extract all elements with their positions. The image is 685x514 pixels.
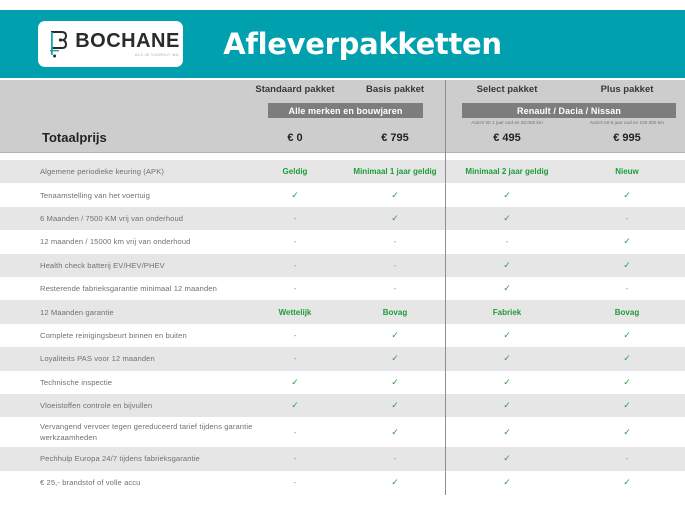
- page-banner: Afleverpakketten BOCHANE ALS JE VOORUIT …: [0, 10, 685, 78]
- table-row: Tenaamstelling van het voertuig✓✓✓✓: [0, 183, 685, 206]
- check-icon: ✓: [572, 427, 682, 438]
- logo-tagline: ALS JE VOORUIT WIL: [135, 54, 180, 58]
- table-row: 6 Maanden / 7500 KM vrij van onderhoud-✓…: [0, 207, 685, 230]
- feature-value: Minimaal 2 jaar geldig: [452, 167, 562, 176]
- column-header-select: Select pakket: [452, 84, 562, 95]
- dash-icon: -: [240, 261, 350, 270]
- check-icon: ✓: [572, 330, 682, 341]
- table-row: 12 Maanden garantieWettelijkBovagFabriek…: [0, 300, 685, 323]
- dash-icon: -: [240, 237, 350, 246]
- comparison-table-page: Afleverpakketten BOCHANE ALS JE VOORUIT …: [0, 0, 685, 514]
- check-icon: ✓: [452, 213, 562, 224]
- table-row: Pechhulp Europa 24/7 tijdens fabrieksgar…: [0, 447, 685, 470]
- group-divider: [445, 80, 446, 495]
- check-icon: ✓: [572, 190, 682, 201]
- check-icon: ✓: [340, 400, 450, 411]
- check-icon: ✓: [572, 400, 682, 411]
- check-icon: ✓: [240, 400, 350, 411]
- check-icon: ✓: [572, 477, 682, 488]
- table-row: Algemene periodieke keuring (APK)GeldigM…: [0, 160, 685, 183]
- check-icon: ✓: [572, 236, 682, 247]
- check-icon: ✓: [340, 353, 450, 364]
- total-price-row: Totaalprijs € 0 € 795 € 495 € 995: [0, 125, 685, 152]
- feature-label: Vloeistoffen controle en bijvullen: [40, 400, 270, 411]
- group-bar-alle-merken: Alle merken en bouwjaren: [268, 103, 423, 118]
- total-price-select: € 495: [452, 132, 562, 144]
- check-icon: ✓: [240, 190, 350, 201]
- feature-value: Bovag: [572, 308, 682, 317]
- table-row: Resterende fabrieksgarantie minimaal 12 …: [0, 277, 685, 300]
- table-row: Loyaliteits PAS voor 12 maanden-✓✓✓: [0, 347, 685, 370]
- check-icon: ✓: [452, 477, 562, 488]
- check-icon: ✓: [452, 190, 562, 201]
- dash-icon: -: [340, 237, 450, 246]
- check-icon: ✓: [452, 353, 562, 364]
- dash-icon: -: [340, 261, 450, 270]
- check-icon: ✓: [452, 283, 562, 294]
- feature-label: Pechhulp Europa 24/7 tijdens fabrieksgar…: [40, 453, 270, 464]
- table-row: Health check batterij EV/HEV/PHEV--✓✓: [0, 254, 685, 277]
- feature-table: Algemene periodieke keuring (APK)GeldigM…: [0, 160, 685, 494]
- feature-value: Fabriek: [452, 308, 562, 317]
- check-icon: ✓: [572, 377, 682, 388]
- dash-icon: -: [240, 331, 350, 340]
- feature-label: Algemene periodieke keuring (APK): [40, 166, 270, 177]
- bochane-b-mark-icon: [47, 29, 71, 59]
- feature-label: Complete reinigingsbeurt binnen en buite…: [40, 330, 270, 341]
- dash-icon: -: [240, 454, 350, 463]
- table-row: Complete reinigingsbeurt binnen en buite…: [0, 324, 685, 347]
- dash-icon: -: [572, 214, 682, 223]
- feature-value: Wettelijk: [240, 308, 350, 317]
- check-icon: ✓: [240, 377, 350, 388]
- check-icon: ✓: [452, 453, 562, 464]
- table-row: € 25,- brandstof of volle accu-✓✓✓: [0, 471, 685, 494]
- check-icon: ✓: [572, 260, 682, 271]
- column-header-standaard: Standaard pakket: [240, 84, 350, 95]
- brand-logo: BOCHANE ALS JE VOORUIT WIL: [38, 21, 183, 67]
- feature-value: Minimaal 1 jaar geldig: [340, 167, 450, 176]
- dash-icon: -: [572, 454, 682, 463]
- feature-label: Resterende fabrieksgarantie minimaal 12 …: [40, 283, 270, 294]
- check-icon: ✓: [572, 353, 682, 364]
- dash-icon: -: [240, 284, 350, 293]
- total-price-label: Totaalprijs: [42, 130, 107, 145]
- feature-label: 12 Maanden garantie: [40, 307, 270, 318]
- column-headers: Standaard pakket Basis pakket Select pak…: [0, 84, 685, 100]
- feature-value: Bovag: [340, 308, 450, 317]
- dash-icon: -: [340, 454, 450, 463]
- check-icon: ✓: [452, 427, 562, 438]
- column-header-basis: Basis pakket: [340, 84, 450, 95]
- total-price-basis: € 795: [340, 132, 450, 144]
- group-bar-renault-dacia-nissan: Renault / Dacia / Nissan: [462, 103, 676, 118]
- table-row: Technische inspectie✓✓✓✓: [0, 371, 685, 394]
- feature-label: 6 Maanden / 7500 KM vrij van onderhoud: [40, 213, 270, 224]
- logo-wordmark: BOCHANE: [75, 31, 180, 51]
- check-icon: ✓: [340, 477, 450, 488]
- header-bottom-rule: [0, 152, 685, 153]
- check-icon: ✓: [340, 190, 450, 201]
- check-icon: ✓: [452, 260, 562, 271]
- feature-label: 12 maanden / 15000 km vrij van onderhoud: [40, 236, 270, 247]
- total-price-plus: € 995: [572, 132, 682, 144]
- dash-icon: -: [340, 284, 450, 293]
- check-icon: ✓: [340, 377, 450, 388]
- dash-icon: -: [240, 428, 350, 437]
- check-icon: ✓: [452, 377, 562, 388]
- dash-icon: -: [240, 478, 350, 487]
- feature-label: Vervangend vervoer tegen gereduceerd tar…: [40, 421, 270, 443]
- column-header-plus: Plus pakket: [572, 84, 682, 95]
- feature-label: Health check batterij EV/HEV/PHEV: [40, 260, 270, 271]
- table-row: Vervangend vervoer tegen gereduceerd tar…: [0, 417, 685, 447]
- feature-label: € 25,- brandstof of volle accu: [40, 477, 270, 488]
- dash-icon: -: [572, 284, 682, 293]
- feature-value: Nieuw: [572, 167, 682, 176]
- dash-icon: -: [240, 354, 350, 363]
- table-row: Vloeistoffen controle en bijvullen✓✓✓✓: [0, 394, 685, 417]
- check-icon: ✓: [452, 330, 562, 341]
- check-icon: ✓: [452, 400, 562, 411]
- check-icon: ✓: [340, 213, 450, 224]
- total-price-standaard: € 0: [240, 132, 350, 144]
- dash-icon: -: [240, 214, 350, 223]
- feature-label: Tenaamstelling van het voertuig: [40, 190, 270, 201]
- dash-icon: -: [452, 237, 562, 246]
- table-row: 12 maanden / 15000 km vrij van onderhoud…: [0, 230, 685, 253]
- feature-label: Loyaliteits PAS voor 12 maanden: [40, 353, 270, 364]
- feature-label: Technische inspectie: [40, 377, 270, 388]
- check-icon: ✓: [340, 330, 450, 341]
- check-icon: ✓: [340, 427, 450, 438]
- feature-value: Geldig: [240, 167, 350, 176]
